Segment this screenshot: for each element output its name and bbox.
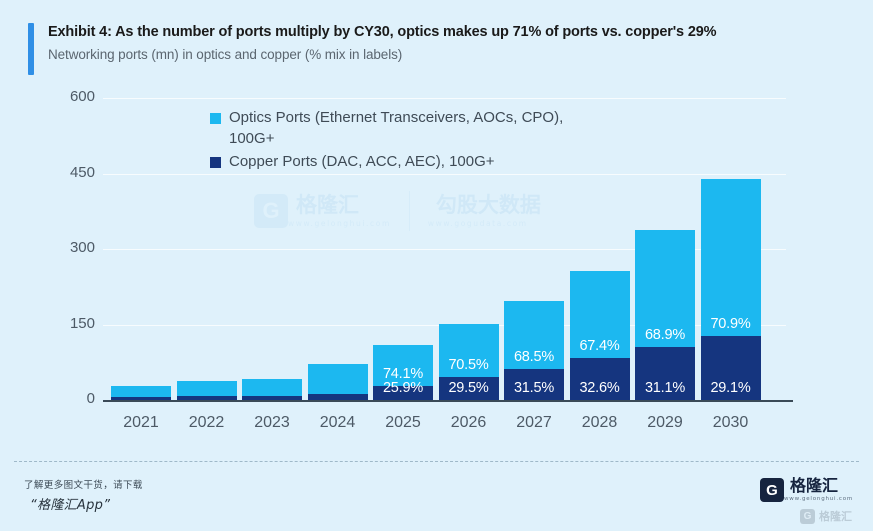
corner-watermark-name: 格隆汇 [819,508,852,524]
bar-label-copper: 29.1% [699,380,763,396]
bar-label-copper: 25.9% [371,380,435,396]
watermark-logo-icon: G [254,194,288,228]
footer-promo-line1: 了解更多图文干货，请下载 [24,477,143,491]
bar-group[interactable]: 70.9%29.1% [701,179,761,400]
bar-segment-optics[interactable]: 68.9% [635,230,695,347]
bar-group[interactable]: 74.1%25.9% [373,345,433,400]
bar-group[interactable] [242,379,302,400]
x-axis-tick-label: 2029 [630,414,700,432]
x-axis-tick-label: 2021 [106,414,176,432]
x-axis-tick-label: 2022 [172,414,242,432]
bar-label-copper: 32.6% [568,380,632,396]
y-axis-tick-label: 450 [40,164,95,181]
bar-segment-copper[interactable] [177,396,237,400]
bar-segment-optics[interactable]: 70.5% [439,324,499,378]
y-axis-tick-label: 600 [40,88,95,105]
bar-segment-copper[interactable] [111,397,171,400]
bar-segment-copper[interactable] [308,394,368,400]
x-axis-tick-label: 2024 [303,414,373,432]
y-axis-tick-label: 150 [40,315,95,332]
footer-logo-url: www.gelonghui.com [784,496,853,502]
bar-segment-copper[interactable] [242,396,302,400]
bar-segment-optics[interactable]: 67.4% [570,271,630,358]
watermark-brand-url: www.gelonghui.com [288,219,391,228]
legend-label-copper: Copper Ports (DAC, ACC, AEC), 100G+ [229,152,495,173]
bar-label-optics: 68.5% [502,349,566,365]
x-axis-tick-label: 2023 [237,414,307,432]
bar-label-optics: 70.5% [437,357,501,373]
bar-segment-copper[interactable]: 31.1% [635,347,695,400]
bar-group[interactable]: 70.5%29.5% [439,324,499,400]
bar-group[interactable] [177,381,237,400]
y-axis-tick-label: 0 [40,390,95,407]
legend-item-copper[interactable]: Copper Ports (DAC, ACC, AEC), 100G+ [210,152,609,173]
gridline [103,98,786,99]
x-axis-tick-label: 2030 [696,414,766,432]
bar-group[interactable]: 68.5%31.5% [504,301,564,400]
footer-logo-icon: G [760,478,784,502]
legend-swatch-optics-icon [210,113,221,124]
bar-segment-copper[interactable]: 25.9% [373,386,433,400]
bar-group[interactable]: 67.4%32.6% [570,271,630,400]
x-axis-tick-label: 2025 [368,414,438,432]
bar-segment-optics[interactable] [177,381,237,396]
bar-label-optics: 67.4% [568,338,632,354]
bar-label-copper: 31.1% [633,380,697,396]
bar-segment-optics[interactable] [111,386,171,397]
bar-segment-optics[interactable] [308,364,368,394]
chart-legend: Optics Ports (Ethernet Transceivers, AOC… [210,108,609,176]
bar-segment-copper[interactable]: 31.5% [504,369,564,400]
legend-swatch-copper-icon [210,157,221,168]
center-watermark: G 格隆汇 www.gelonghui.com 勾股大数据 www.goguda… [254,191,541,231]
bar-label-optics: 68.9% [633,327,697,343]
watermark-divider [409,191,410,231]
watermark-partner-name: 勾股大数据 [436,194,541,216]
x-axis-tick-label: 2027 [499,414,569,432]
bar-segment-copper[interactable]: 32.6% [570,358,630,400]
watermark-partner-url: www.gogudata.com [428,219,541,228]
bar-segment-copper[interactable]: 29.5% [439,377,499,400]
bar-group[interactable]: 68.9%31.1% [635,230,695,400]
bar-group[interactable] [308,364,368,400]
footer-divider [14,461,859,462]
chart-card: Exhibit 4: As the number of ports multip… [0,0,873,531]
footer-brand-logo: G 格隆汇 www.gelonghui.com [760,478,853,502]
bar-segment-optics[interactable]: 68.5% [504,301,564,369]
watermark-brand-name: 格隆汇 [296,194,391,216]
plot-area: 0150300450600 G 格隆汇 www.gelonghui.com 勾股… [0,0,873,455]
footer-logo-name: 格隆汇 [790,478,853,494]
bar-label-optics: 70.9% [699,316,763,332]
bar-group[interactable] [111,386,171,400]
bar-segment-optics[interactable]: 70.9% [701,179,761,336]
legend-item-optics[interactable]: Optics Ports (Ethernet Transceivers, AOC… [210,108,609,149]
corner-watermark-icon: G [800,509,815,524]
bar-segment-copper[interactable]: 29.1% [701,336,761,400]
footer-promo-line2: “格隆汇App” [30,494,110,513]
bar-label-copper: 29.5% [437,380,501,396]
bar-label-copper: 31.5% [502,380,566,396]
x-axis-tick-label: 2028 [565,414,635,432]
bar-segment-optics[interactable] [242,379,302,396]
x-axis-line [103,400,793,402]
x-axis-tick-label: 2026 [434,414,504,432]
legend-label-optics: Optics Ports (Ethernet Transceivers, AOC… [229,108,609,149]
corner-watermark: G 格隆汇 [800,508,852,524]
y-axis-tick-label: 300 [40,239,95,256]
